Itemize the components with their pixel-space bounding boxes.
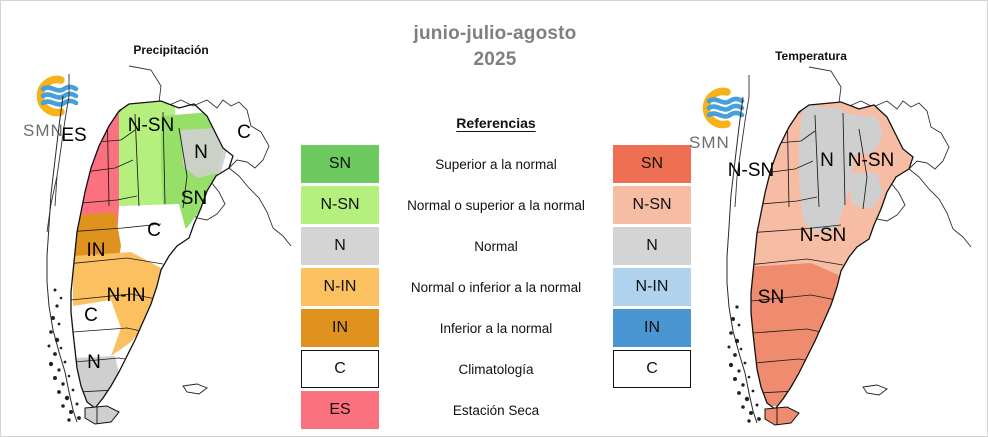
map-region-label-nsn: N-SN <box>800 225 846 246</box>
precipitation-map: ESN-SNNCSNCINN-INCN <box>11 56 301 431</box>
legend-description: Normal o superior a la normal <box>379 198 613 213</box>
legend-swatch-temperature-sn: SN <box>613 145 691 183</box>
map-region-label-c: C <box>147 220 161 241</box>
legend-swatch-code: N <box>646 237 658 255</box>
legend-description: Normal o inferior a la normal <box>379 280 613 295</box>
legend-rows: SNSuperior a la normalSNN-SNNormal o sup… <box>301 145 691 432</box>
legend-description: Normal <box>379 239 613 254</box>
legend-swatch-precipitation-in: IN <box>301 309 379 347</box>
map-region-label-sn: SN <box>181 188 207 209</box>
map-region-label-n: N <box>820 150 834 171</box>
legend-swatch-temperature-c: C <box>613 350 691 388</box>
legend-swatch-code: N-SN <box>632 196 671 214</box>
legend-row: N-SNNormal o superior a la normalN-SN <box>301 186 691 224</box>
map-region-label-es: ES <box>61 125 86 146</box>
legend-swatch-code: IN <box>332 319 348 337</box>
legend-swatch-code: N-IN <box>324 278 357 296</box>
forecast-infographic: junio-julio-agosto 2025 Precipitación SM… <box>0 0 988 437</box>
legend-swatch-precipitation-sn: SN <box>301 145 379 183</box>
legend-row: NNormalN <box>301 227 691 265</box>
legend-swatch-temperature-n-sn: N-SN <box>613 186 691 224</box>
map-region-label-c: C <box>84 305 98 326</box>
legend: Referencias SNSuperior a la normalSNN-SN… <box>301 111 691 431</box>
legend-swatch-precipitation-n-sn: N-SN <box>301 186 379 224</box>
legend-row: INInferior a la normalIN <box>301 309 691 347</box>
map-region-label-n: N <box>87 352 101 373</box>
legend-swatch-precipitation-c: C <box>301 350 379 388</box>
map-region-label-nsn: N-SN <box>728 160 774 181</box>
legend-swatch-temperature-n: N <box>613 227 691 265</box>
legend-swatch-code: ES <box>329 401 350 419</box>
map-region-label-sn: SN <box>758 287 784 308</box>
legend-swatch-code: IN <box>644 319 660 337</box>
precipitation-panel-title: Precipitación <box>61 43 281 57</box>
map-region-label-in: IN <box>87 240 106 261</box>
legend-swatch-precipitation-n-in: N-IN <box>301 268 379 306</box>
legend-swatch-code: C <box>334 360 346 378</box>
legend-swatch-code: SN <box>329 155 351 173</box>
legend-title: Referencias <box>301 115 691 131</box>
legend-description: Superior a la normal <box>379 157 613 172</box>
map-region-label-nin: N-IN <box>106 285 145 306</box>
legend-row: ESEstación Seca <box>301 391 691 429</box>
map-region-label-n: N <box>194 142 208 163</box>
legend-swatch-code: N-SN <box>320 196 359 214</box>
legend-row: SNSuperior a la normalSN <box>301 145 691 183</box>
legend-description: Estación Seca <box>379 403 613 418</box>
legend-swatch-code: N <box>334 237 346 255</box>
map-region-label-c: C <box>237 122 251 143</box>
legend-swatch-code: N-IN <box>636 278 669 296</box>
legend-description: Climatología <box>379 362 613 377</box>
legend-row: CClimatologíaC <box>301 350 691 388</box>
map-region-label-nsn: N-SN <box>128 115 174 136</box>
legend-swatch-precipitation-n: N <box>301 227 379 265</box>
temperature-map: N-SNNN-SNN-SNSN <box>691 61 981 431</box>
map-region-label-nsn: N-SN <box>848 150 894 171</box>
legend-swatch-temperature-in: IN <box>613 309 691 347</box>
legend-row: N-INNormal o inferior a la normalN-IN <box>301 268 691 306</box>
title-season: junio-julio-agosto <box>414 23 577 44</box>
legend-swatch-code: SN <box>641 155 663 173</box>
legend-description: Inferior a la normal <box>379 321 613 336</box>
legend-swatch-code: C <box>646 360 658 378</box>
legend-swatch-precipitation-es: ES <box>301 391 379 429</box>
legend-swatch-temperature-n-in: N-IN <box>613 268 691 306</box>
